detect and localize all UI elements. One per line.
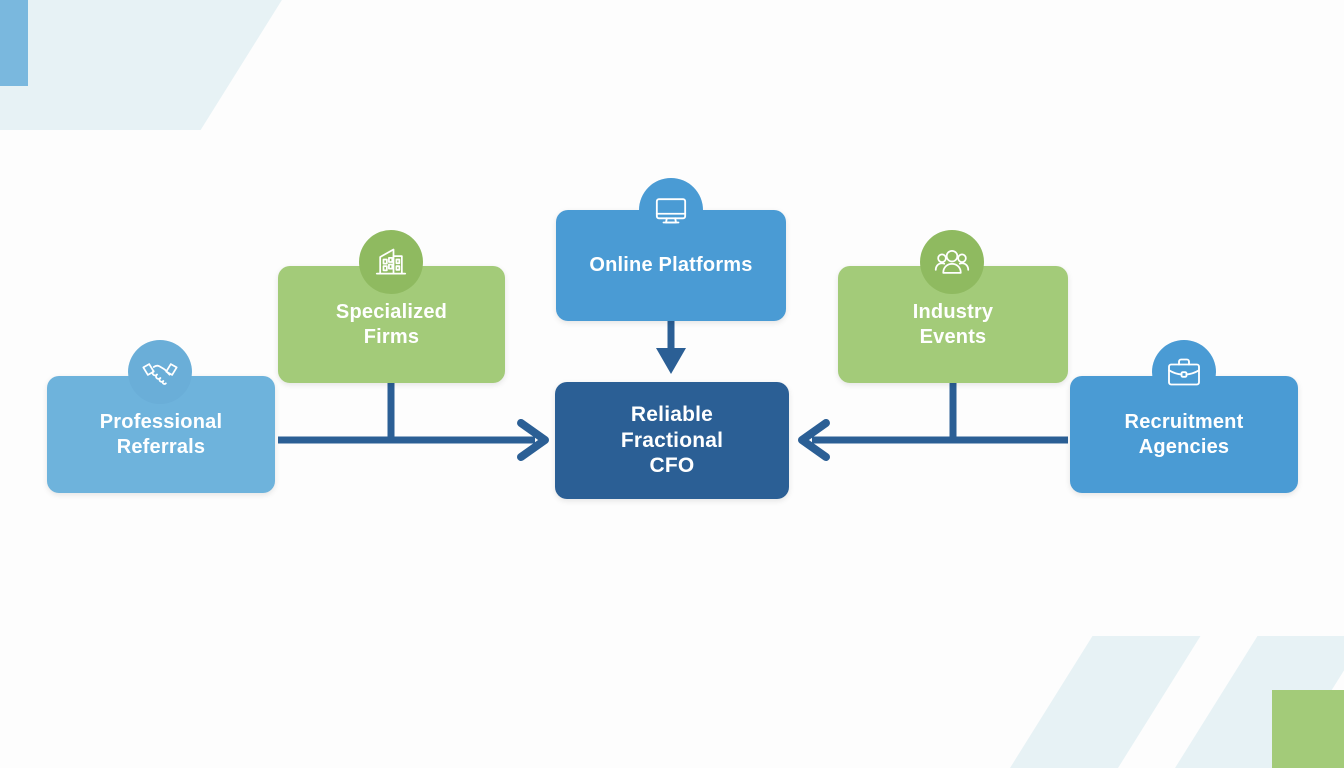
node-recruitment-agencies-label: Recruitment Agencies — [1111, 410, 1258, 459]
node-reliable-fractional-cfo-label: Reliable Fractional CFO — [607, 402, 737, 479]
node-reliable-fractional-cfo[interactable]: Reliable Fractional CFO — [555, 382, 789, 499]
briefcase-icon — [1164, 352, 1204, 392]
diagram-canvas: Professional Referrals Specialized Firms… — [0, 0, 1344, 768]
node-industry-events-label: Industry Events — [899, 300, 1008, 349]
badge-professional-referrals — [128, 340, 192, 404]
badge-online-platforms — [639, 178, 703, 242]
office-building-icon — [371, 242, 411, 282]
node-specialized-firms-label: Specialized Firms — [322, 300, 461, 349]
badge-industry-events — [920, 230, 984, 294]
node-professional-referrals-label: Professional Referrals — [86, 410, 236, 459]
node-online-platforms-label: Online Platforms — [575, 253, 766, 277]
badge-recruitment-agencies — [1152, 340, 1216, 404]
handshake-icon — [140, 352, 180, 392]
badge-specialized-firms — [359, 230, 423, 294]
desktop-monitor-icon — [651, 190, 691, 230]
people-group-icon — [932, 242, 972, 282]
arrowhead-down-icon — [656, 348, 686, 374]
